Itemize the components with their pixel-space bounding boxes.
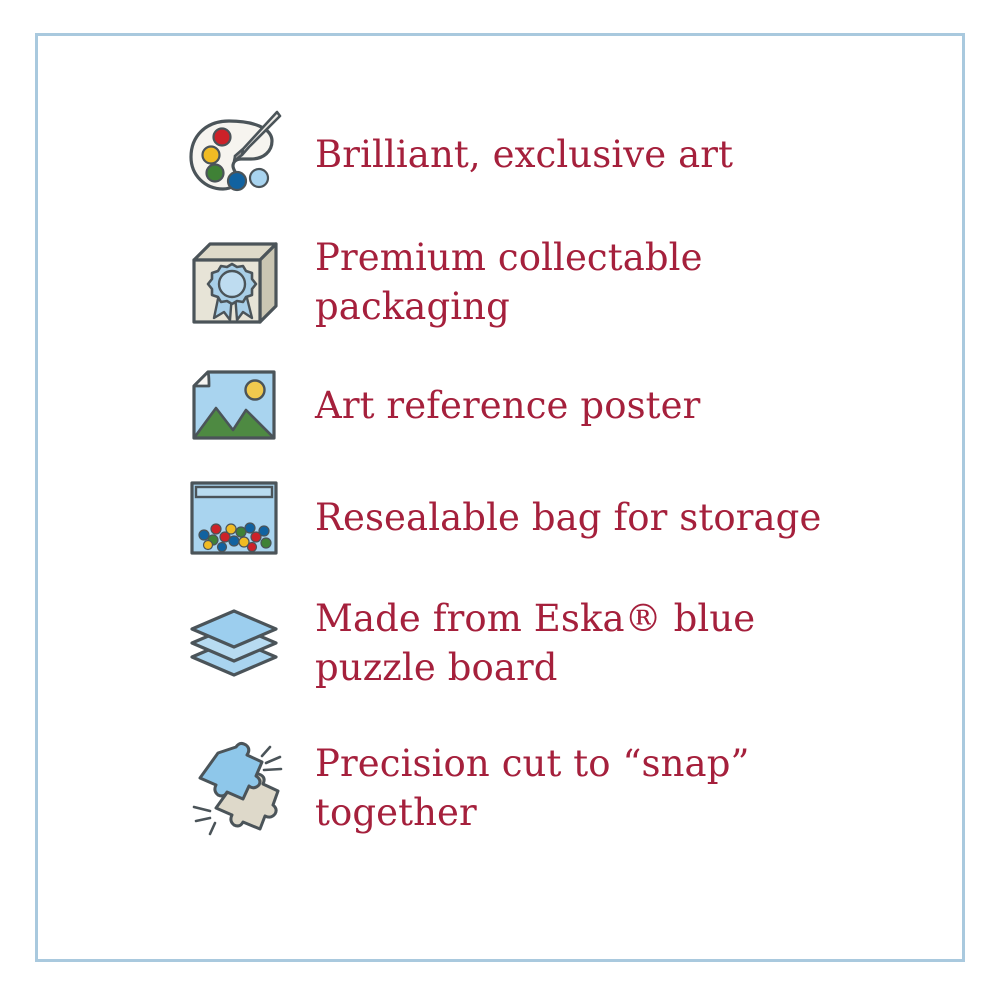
paint-palette-icon [175, 109, 293, 201]
feature-list: Brilliant, exclusive art [35, 33, 965, 962]
feature-label: Brilliant, exclusive art [293, 131, 733, 180]
feature-item-brilliant-art: Brilliant, exclusive art [175, 95, 925, 215]
feature-label: Resealable bag for storage [293, 494, 821, 543]
snap-puzzle-pieces-icon [175, 739, 293, 839]
feature-item-resealable-bag: Resealable bag for storage [175, 462, 925, 574]
poster-image-icon [175, 366, 293, 446]
premium-box-icon [175, 236, 293, 330]
resealable-bag-icon [175, 479, 293, 557]
feature-item-art-poster: Art reference poster [175, 350, 925, 462]
poster-canvas: Brilliant, exclusive art [0, 0, 1000, 1000]
feature-item-precision-cut: Precision cut to “snap” together [175, 714, 925, 864]
feature-label: Precision cut to “snap” together [293, 740, 750, 838]
stacked-board-layers-icon [175, 603, 293, 685]
feature-label: Premium collectable packaging [293, 234, 703, 332]
feature-label: Made from Eska® blue puzzle board [293, 595, 755, 693]
feature-item-premium-packaging: Premium collectable packaging [175, 215, 925, 350]
feature-item-eska-board: Made from Eska® blue puzzle board [175, 574, 925, 714]
feature-label: Art reference poster [293, 382, 700, 431]
